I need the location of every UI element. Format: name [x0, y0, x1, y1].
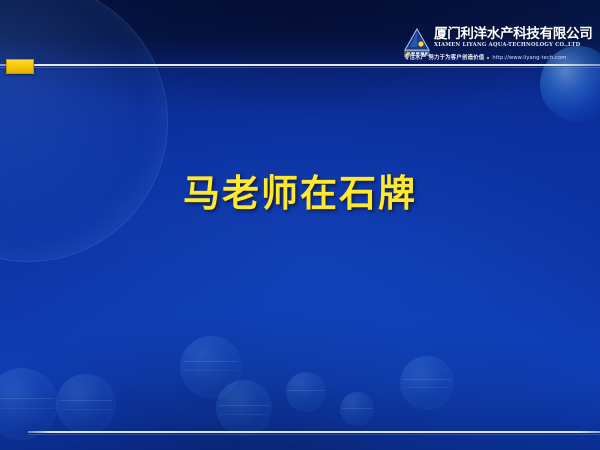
decorative-bubble: [340, 392, 374, 426]
bullet-dot-icon: [487, 57, 489, 59]
liyang-triangle-logo-icon: [404, 27, 430, 57]
slide-title: 马老师在石牌: [0, 172, 600, 216]
decorative-bubble: [216, 380, 272, 436]
company-name-cn: 厦门利洋水产科技有限公司: [434, 27, 596, 41]
background-glow: [240, 200, 600, 450]
presentation-slide: 厦门利洋水产科技有限公司 XIAMEN LIYANG AQUA-TECHNOLO…: [0, 0, 600, 450]
decorative-bubble: [400, 356, 454, 410]
header-divider-shadow: [0, 67, 600, 68]
company-name-en: XIAMEN LIYANG AQUA-TECHNOLOGY CO.,LTD: [434, 42, 596, 49]
tagline-text: 专注水产 努力于为客户创造价值: [404, 54, 484, 62]
footer-divider-shadow: [28, 434, 600, 435]
decorative-bubble: [286, 372, 326, 412]
company-website-url: http://www.liyang-tech.com: [492, 54, 566, 62]
company-tagline: 专注水产 努力于为客户创造价值 http://www.liyang-tech.c…: [404, 54, 596, 62]
yellow-accent-tab: [6, 59, 34, 74]
header-divider: [0, 64, 600, 66]
footer-divider: [28, 431, 600, 433]
decorative-bubble: [56, 374, 116, 434]
